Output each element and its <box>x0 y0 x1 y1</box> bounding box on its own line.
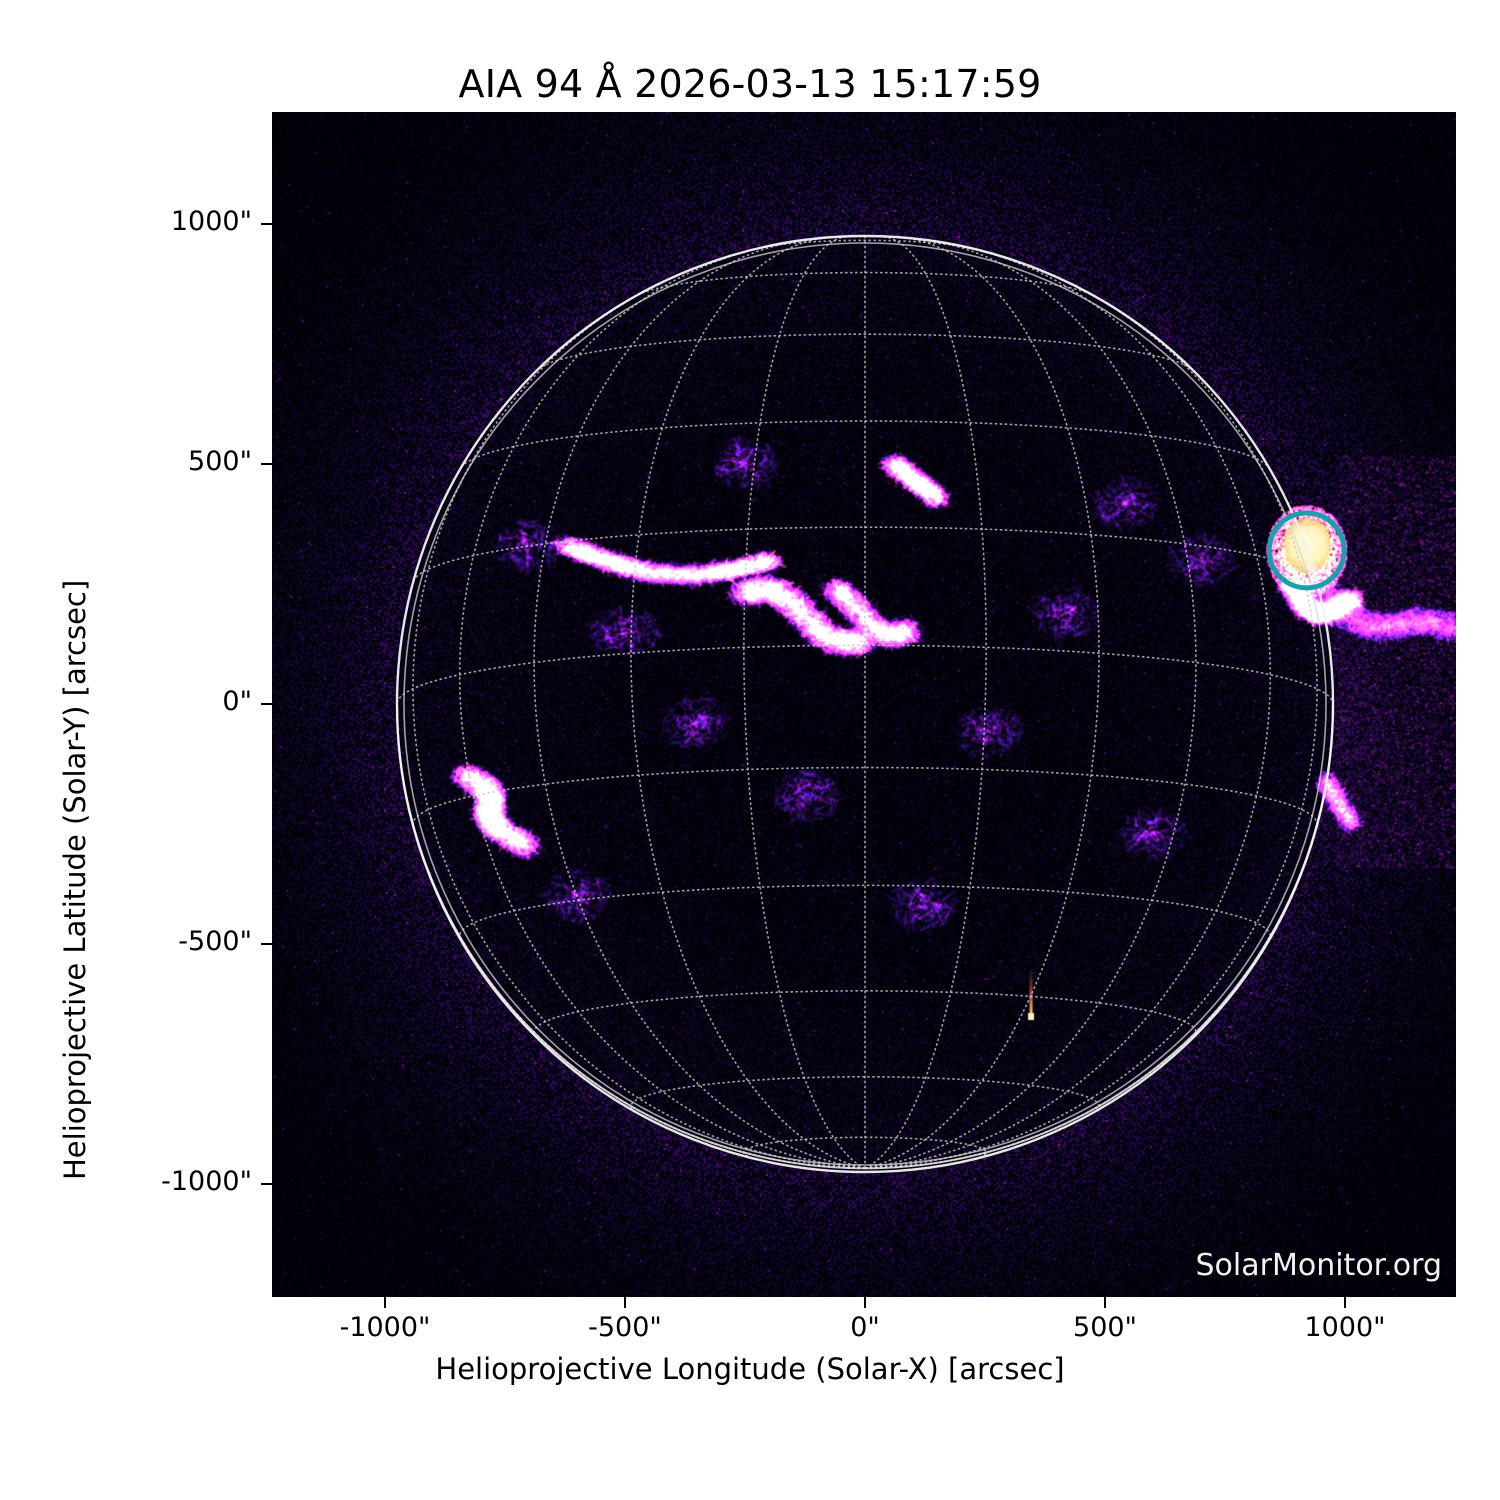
grid-line <box>534 240 865 1168</box>
x-tick-mark <box>384 1297 386 1308</box>
x-tick-label: 1000" <box>1255 1312 1435 1343</box>
grid-line <box>397 645 1333 704</box>
grid-line <box>865 714 1333 1169</box>
heliographic-grid-overlay <box>272 112 1456 1297</box>
solar-disk-plot-area[interactable]: SolarMonitor.org <box>272 112 1456 1297</box>
grid-line <box>865 237 1099 1168</box>
y-axis-label: Helioprojective Latitude (Solar-Y) [arcs… <box>58 580 92 1180</box>
grid-line <box>413 281 865 1168</box>
x-tick-mark <box>1344 1297 1346 1308</box>
y-tick-mark <box>261 703 272 705</box>
solar-image-figure: AIA 94 Å 2026-03-13 15:17:59 SolarMonito… <box>0 0 1500 1500</box>
y-tick-mark <box>261 463 272 465</box>
y-tick-mark <box>261 223 272 225</box>
y-tick-mark <box>261 1183 272 1185</box>
grid-line <box>865 247 1270 1168</box>
x-tick-label: 0" <box>775 1312 955 1343</box>
watermark-solarmonitor: SolarMonitor.org <box>1196 1248 1442 1283</box>
grid-line <box>631 237 865 1168</box>
y-tick-label: 1000" <box>0 206 252 237</box>
x-axis-label: Helioprojective Longitude (Solar-X) [arc… <box>0 1352 1500 1386</box>
grid-line <box>460 247 865 1168</box>
figure-title: AIA 94 Å 2026-03-13 15:17:59 <box>0 62 1500 106</box>
x-tick-mark <box>1104 1297 1106 1308</box>
y-tick-mark <box>261 943 272 945</box>
x-tick-label: -1000" <box>295 1312 475 1343</box>
y-tick-label: 500" <box>0 446 252 477</box>
y-tick-label: -1000" <box>0 1166 252 1197</box>
x-tick-mark <box>624 1297 626 1308</box>
x-tick-label: -500" <box>535 1312 715 1343</box>
grid-line <box>744 236 865 1168</box>
y-tick-label: -500" <box>0 926 252 957</box>
grid-line <box>865 281 1317 1168</box>
grid-line <box>865 240 1196 1168</box>
y-tick-label: 0" <box>0 686 252 717</box>
x-tick-mark <box>864 1297 866 1308</box>
grid-line <box>865 236 986 1168</box>
grid-line <box>397 714 865 1169</box>
x-tick-label: 500" <box>1015 1312 1195 1343</box>
grid-line <box>413 527 1316 581</box>
